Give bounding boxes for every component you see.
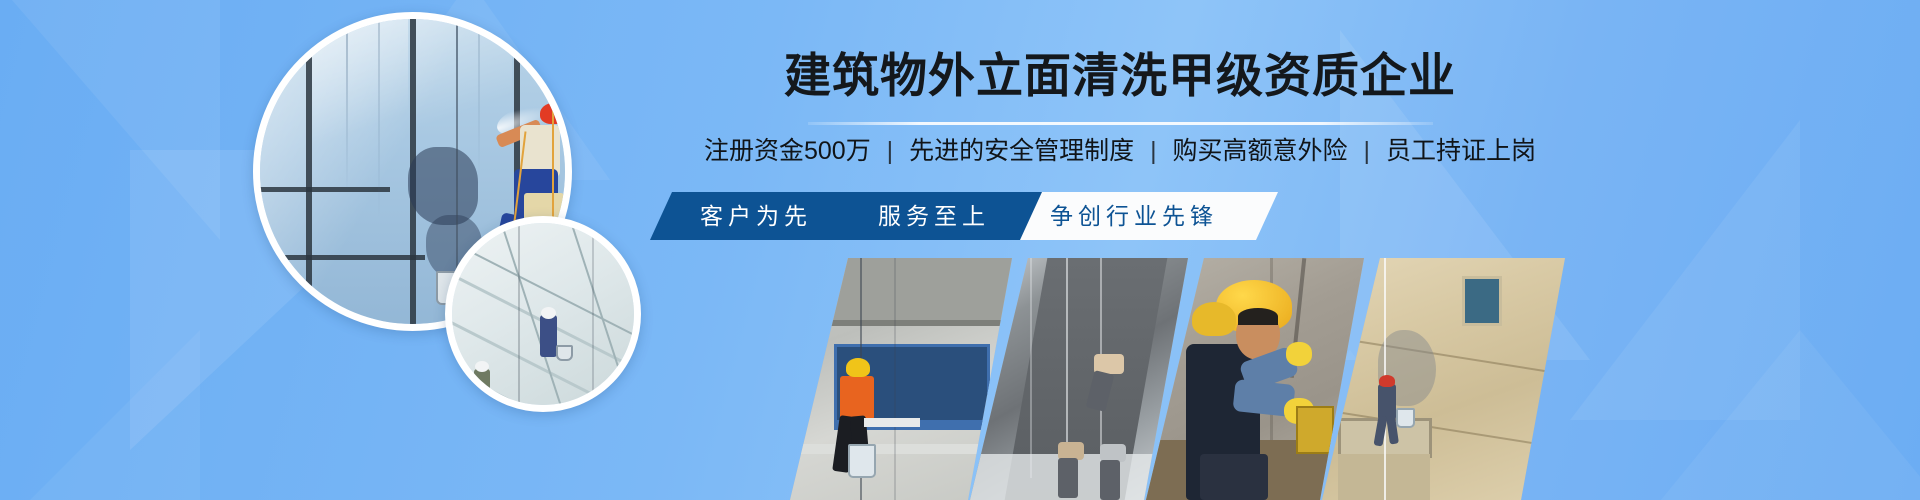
page-title: 建筑物外立面清洗甲级资质企业 bbox=[648, 52, 1592, 99]
photo-white-facade bbox=[452, 223, 634, 405]
subtitle-item: 先进的安全管理制度 bbox=[909, 137, 1134, 165]
circle-photo-white-facade bbox=[445, 216, 641, 412]
title-divider bbox=[808, 122, 1433, 125]
subtitle-item: 购买高额意外险 bbox=[1173, 137, 1348, 165]
slogan-customer-first: 客户为先 bbox=[700, 192, 812, 240]
photo-strip bbox=[790, 258, 1565, 500]
slogan-service-supreme: 服务至上 bbox=[878, 192, 990, 240]
slogan-industry-pioneer: 争创行业先锋 bbox=[1050, 192, 1218, 240]
subtitle-separator: | bbox=[878, 136, 903, 166]
background-triangle bbox=[0, 330, 200, 500]
promo-banner: 建筑物外立面清洗甲级资质企业 注册资金500万 | 先进的安全管理制度 | 购买… bbox=[0, 0, 1920, 500]
subtitle-separator: | bbox=[1355, 136, 1380, 166]
banner-content: 建筑物外立面清洗甲级资质企业 注册资金500万 | 先进的安全管理制度 | 购买… bbox=[640, 0, 1600, 500]
subtitle-separator: | bbox=[1141, 136, 1166, 166]
subtitle-item: 注册资金500万 bbox=[704, 137, 871, 165]
slogan-bar: 客户为先 服务至上 争创行业先锋 bbox=[650, 192, 1278, 240]
strip-panel-beige-apartment bbox=[1322, 258, 1565, 500]
background-triangle bbox=[1620, 330, 1920, 500]
subtitle-features: 注册资金500万 | 先进的安全管理制度 | 购买高额意外险 | 员工持证上岗 bbox=[648, 136, 1592, 166]
subtitle-item: 员工持证上岗 bbox=[1386, 137, 1536, 165]
